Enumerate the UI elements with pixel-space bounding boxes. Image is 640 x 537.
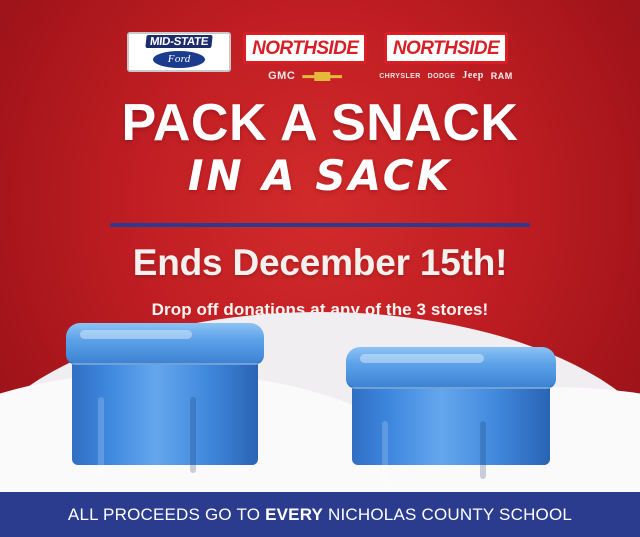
ram-wordmark: RAM: [491, 72, 513, 81]
northside-cdjr-wordmark: NORTHSIDE: [393, 39, 499, 58]
northside-gm-wordmark: NORTHSIDE: [252, 39, 358, 58]
jeep-wordmark: Jeep: [462, 71, 483, 81]
chevrolet-bowtie-icon: [302, 70, 342, 82]
snack-bag-left: [72, 323, 258, 465]
snack-bag-right: [352, 347, 550, 465]
mid-state-wordmark: MID-STATE: [145, 35, 213, 48]
snack-bag-right-fold: [346, 347, 556, 389]
logo-northside-cdjr: NORTHSIDE CHRYSLER DODGE Jeep RAM: [379, 32, 513, 83]
logo-mid-state-ford: MID-STATE Ford: [127, 32, 231, 72]
snack-bag-left-body: [72, 349, 258, 465]
ford-oval-icon: Ford: [152, 50, 206, 69]
headline-secondary: IN A SACK: [0, 154, 640, 198]
dealer-logo-row: MID-STATE Ford NORTHSIDE GMC NORTHSIDE C…: [0, 32, 640, 83]
snack-bag-right-crease-a: [382, 421, 388, 483]
northside-cdjr-brands: CHRYSLER DODGE Jeep RAM: [379, 69, 513, 83]
snack-bag-left-highlight: [80, 330, 192, 339]
snack-bag-left-fold: [66, 323, 264, 365]
dodge-wordmark: DODGE: [428, 73, 456, 80]
footer-text-post: NICHOLAS COUNTY SCHOOL: [323, 505, 572, 524]
promo-poster: MID-STATE Ford NORTHSIDE GMC NORTHSIDE C…: [0, 0, 640, 537]
northside-gm-badge: NORTHSIDE: [243, 32, 367, 64]
snack-bag-right-highlight: [360, 354, 484, 363]
footer-text-pre: ALL PROCEEDS GO TO: [68, 505, 265, 524]
snack-bag-left-crease-b: [190, 397, 196, 473]
logo-northside-gm: NORTHSIDE GMC: [243, 32, 367, 83]
footer-text-emphasis: EVERY: [265, 505, 323, 524]
end-date-text: Ends December 15th!: [0, 243, 640, 284]
divider-rule: [110, 223, 530, 227]
snack-bag-right-crease-b: [480, 421, 486, 479]
snack-bag-left-crease-a: [98, 397, 104, 477]
footer-text: ALL PROCEEDS GO TO EVERY NICHOLAS COUNTY…: [68, 505, 572, 525]
northside-cdjr-badge: NORTHSIDE: [384, 32, 508, 64]
mid-state-ford-badge: MID-STATE Ford: [127, 32, 231, 72]
chrysler-wordmark: CHRYSLER: [379, 73, 420, 80]
footer-bar: ALL PROCEEDS GO TO EVERY NICHOLAS COUNTY…: [0, 492, 640, 537]
northside-gm-brands: GMC: [268, 69, 342, 83]
headline-primary: PACK A SNACK: [0, 96, 640, 151]
gmc-wordmark: GMC: [268, 71, 295, 82]
ford-wordmark: Ford: [168, 54, 191, 65]
